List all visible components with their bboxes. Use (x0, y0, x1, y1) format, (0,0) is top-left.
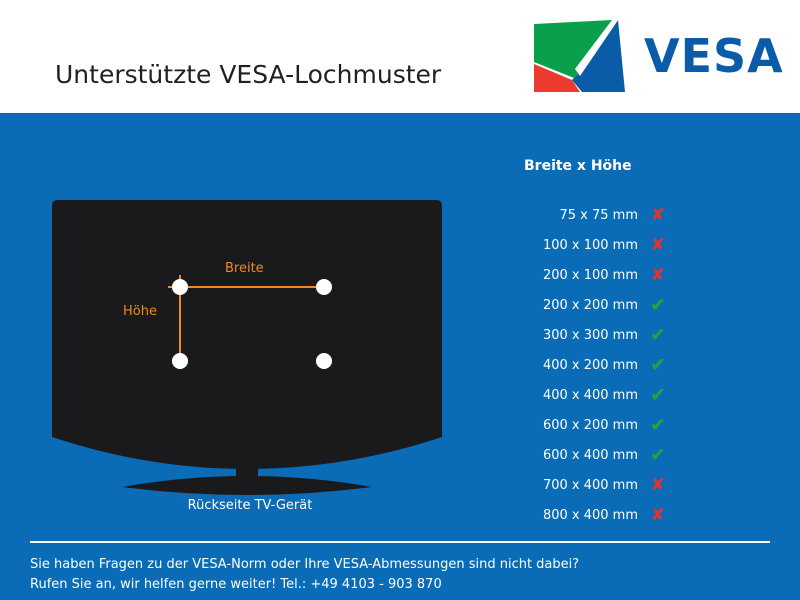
size-label: 400 x 200 mm (500, 358, 638, 373)
table-row: 800 x 400 mm ✘ (500, 500, 700, 530)
size-label: 100 x 100 mm (500, 238, 638, 253)
height-label: Höhe (123, 304, 157, 319)
vesa-wordmark: VESA (644, 30, 784, 82)
tv-back-illustration: Breite Höhe Rückseite TV-Gerät (40, 191, 460, 521)
size-label: 300 x 300 mm (500, 328, 638, 343)
blue-content-panel: Breite Höhe Rückseite TV-Gerät Breite x … (0, 113, 800, 600)
check-icon: ✔ (638, 447, 678, 464)
cross-icon: ✘ (638, 477, 678, 494)
table-row: 300 x 300 mm ✔ (500, 320, 700, 350)
size-label: 700 x 400 mm (500, 478, 638, 493)
table-row: 75 x 75 mm ✘ (500, 200, 700, 230)
mount-hole-bottom-right (316, 353, 332, 369)
check-icon: ✔ (638, 417, 678, 434)
mount-hole-top-left (172, 279, 188, 295)
vesa-checkmark-logo-icon (532, 18, 627, 94)
check-icon: ✔ (638, 387, 678, 404)
cross-icon: ✘ (638, 207, 678, 224)
tv-body (52, 200, 442, 469)
size-label: 75 x 75 mm (500, 208, 638, 223)
table-row: 400 x 200 mm ✔ (500, 350, 700, 380)
page-title: Unterstützte VESA-Lochmuster (55, 60, 441, 89)
header-bar: Unterstützte VESA-Lochmuster VESA (0, 0, 800, 113)
table-row: 700 x 400 mm ✘ (500, 470, 700, 500)
tv-caption: Rückseite TV-Gerät (40, 498, 460, 513)
table-row: 100 x 100 mm ✘ (500, 230, 700, 260)
table-row: 200 x 100 mm ✘ (500, 260, 700, 290)
table-row: 400 x 400 mm ✔ (500, 380, 700, 410)
table-header-breite-x-hoehe: Breite x Höhe (500, 158, 700, 174)
footer-contact: Sie haben Fragen zu der VESA-Norm oder I… (30, 541, 770, 595)
mount-hole-bottom-left (172, 353, 188, 369)
vesa-size-table: Breite x Höhe 75 x 75 mm ✘ 100 x 100 mm … (500, 158, 700, 530)
width-label: Breite (225, 261, 264, 276)
footer-line-phone: Rufen Sie an, wir helfen gerne weiter! T… (30, 575, 770, 595)
footer-line-question: Sie haben Fragen zu der VESA-Norm oder I… (30, 555, 770, 575)
cross-icon: ✘ (638, 237, 678, 254)
check-icon: ✔ (638, 357, 678, 374)
size-label: 400 x 400 mm (500, 388, 638, 403)
table-row: 200 x 200 mm ✔ (500, 290, 700, 320)
size-label: 200 x 100 mm (500, 268, 638, 283)
cross-icon: ✘ (638, 267, 678, 284)
tv-diagram-svg (40, 191, 460, 521)
cross-icon: ✘ (638, 507, 678, 524)
vesa-logo: VESA (532, 18, 784, 94)
table-row: 600 x 400 mm ✔ (500, 440, 700, 470)
size-label: 200 x 200 mm (500, 298, 638, 313)
check-icon: ✔ (638, 297, 678, 314)
vesa-infographic-page: Unterstützte VESA-Lochmuster VESA (0, 0, 800, 600)
tv-stand-base (122, 476, 372, 495)
table-row: 600 x 200 mm ✔ (500, 410, 700, 440)
size-label: 600 x 200 mm (500, 418, 638, 433)
size-label: 600 x 400 mm (500, 448, 638, 463)
footer-divider (30, 541, 770, 543)
mount-hole-top-right (316, 279, 332, 295)
size-label: 800 x 400 mm (500, 508, 638, 523)
check-icon: ✔ (638, 327, 678, 344)
